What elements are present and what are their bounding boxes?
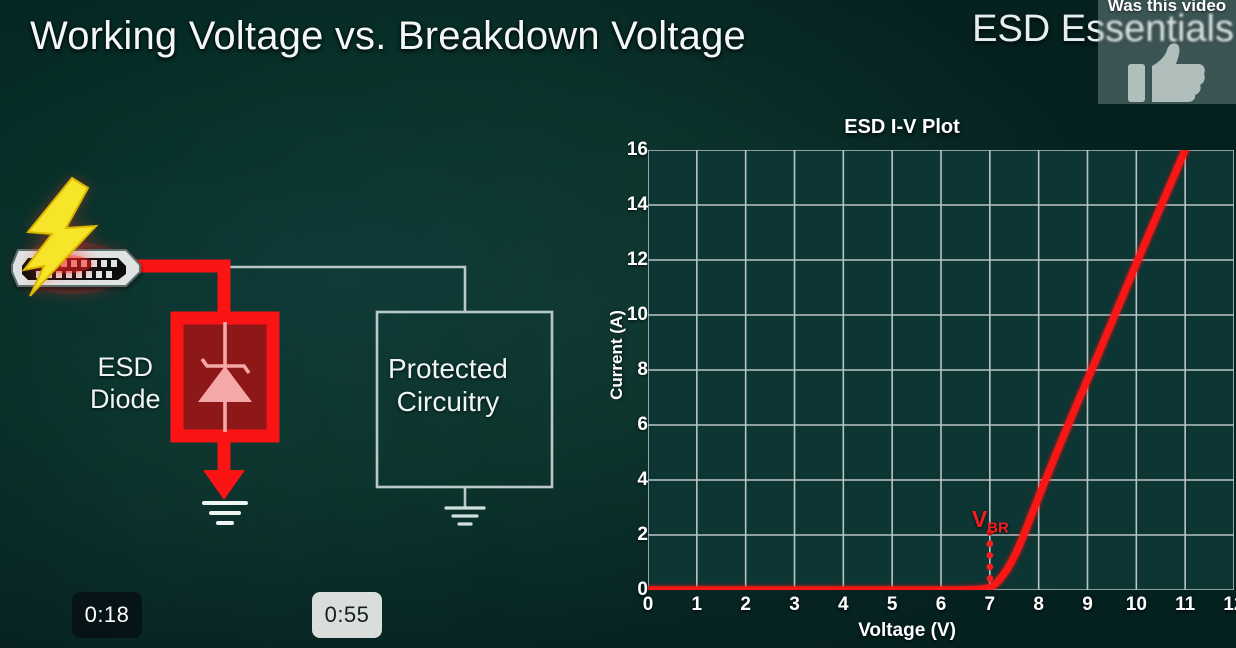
x-tick-label: 9 (1082, 594, 1093, 616)
x-tick-label: 0 (643, 594, 654, 616)
x-tick-label: 12 (1223, 594, 1236, 616)
esd-iv-chart: ESD I-V Plot Current (A) Voltage (V) 024… (586, 110, 1236, 648)
x-tick-label: 4 (838, 594, 849, 616)
x-tick-label: 2 (740, 594, 751, 616)
x-tick-label: 11 (1175, 594, 1195, 616)
current-time-badge[interactable]: 0:18 (72, 592, 142, 638)
page-title: Working Voltage vs. Breakdown Voltage (30, 14, 746, 59)
x-tick-label: 3 (789, 594, 800, 616)
ground-symbol-icon (446, 508, 484, 524)
y-tick-label: 12 (614, 249, 648, 271)
like-prompt-overlay[interactable]: Was this video (1098, 0, 1236, 104)
vbr-annotation-label: VBR (972, 506, 1009, 537)
surge-arrow-icon (203, 470, 245, 500)
chart-plot-area (648, 150, 1234, 590)
chart-x-axis-label: Voltage (V) (586, 620, 1228, 642)
x-tick-label: 5 (887, 594, 898, 616)
ground-symbol-icon (204, 503, 246, 523)
y-tick-label: 14 (614, 194, 648, 216)
esd-diode-label: ESD Diode (90, 352, 161, 416)
y-tick-label: 8 (614, 359, 648, 381)
y-tick-label: 16 (614, 139, 648, 161)
y-tick-label: 6 (614, 414, 648, 436)
overlay-question-text: Was this video (1098, 0, 1236, 16)
x-tick-label: 10 (1126, 594, 1147, 616)
y-tick-label: 10 (614, 304, 648, 326)
x-tick-label: 8 (1033, 594, 1044, 616)
y-tick-label: 4 (614, 469, 648, 491)
video-frame: Working Voltage vs. Breakdown Voltage ES… (0, 0, 1236, 648)
x-tick-label: 7 (985, 594, 996, 616)
y-tick-label: 2 (614, 524, 648, 546)
signal-wire (150, 267, 465, 312)
x-tick-label: 1 (692, 594, 703, 616)
x-tick-label: 6 (936, 594, 947, 616)
chart-title: ESD I-V Plot (586, 116, 1218, 139)
protected-circuitry-label: Protected Circuitry (388, 352, 508, 418)
thumbs-up-icon[interactable] (1126, 42, 1208, 104)
chart-x-tick-labels: 0123456789101112 (586, 594, 1236, 622)
chart-y-tick-labels: 0246810121416 (600, 110, 648, 648)
esd-diode-component (177, 318, 273, 436)
total-time-badge[interactable]: 0:55 (312, 592, 382, 638)
